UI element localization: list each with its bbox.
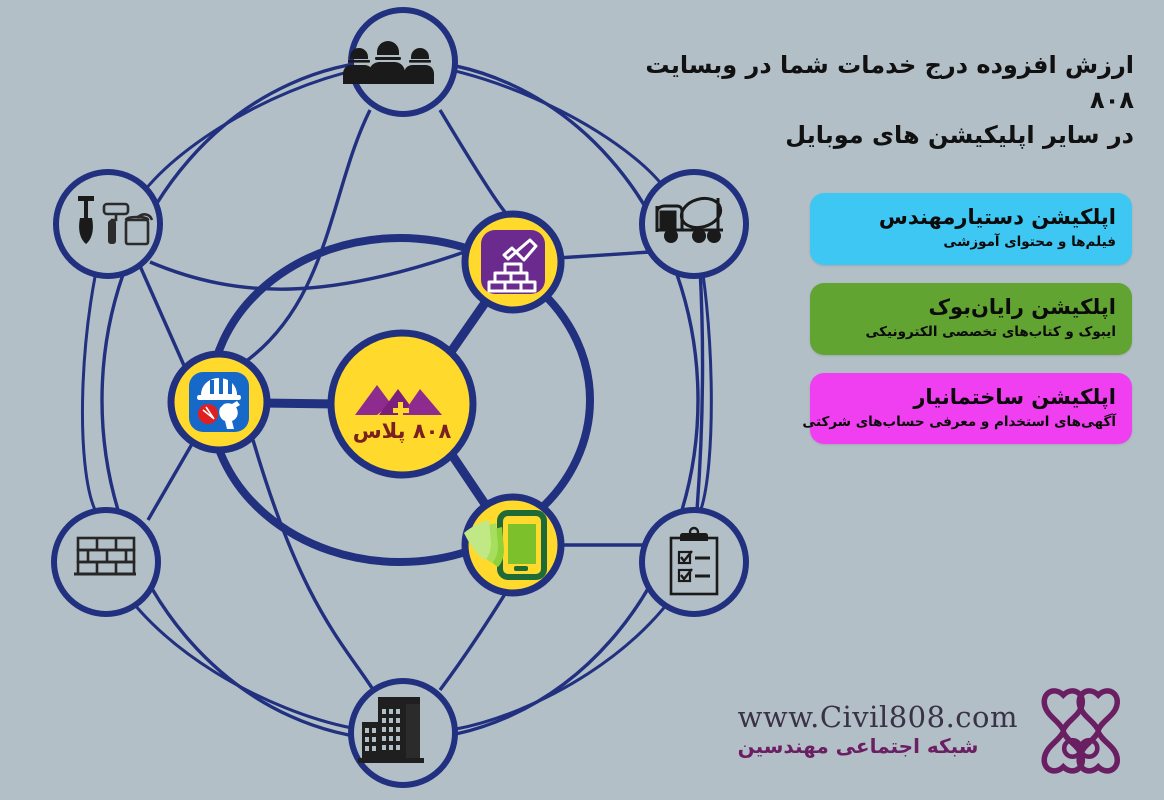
app-card-subtitle: ایبوک و کتاب‌های تخصصی الکترونیکی [826, 324, 1116, 342]
rayanbook-node[interactable] [464, 497, 561, 593]
app-card-rayanbook[interactable]: اپلکیشن رایان‌بوک ایبوک و کتاب‌های تخصصی… [810, 283, 1132, 355]
sakhtemanyar-node[interactable] [465, 214, 561, 310]
app-card-subtitle: آگهی‌های استخدام و معرفی حساب‌های شرکتی [826, 414, 1116, 432]
right-panel: ارزش افزوده درج خدمات شما در وبسایت ۸۰۸ … [600, 0, 1164, 800]
808-plus-hub[interactable]: ۸۰۸ پلاس [331, 333, 473, 475]
hub-label: ۸۰۸ پلاس [353, 419, 452, 443]
brand-tagline: شبکه اجتماعی مهندسین [738, 734, 979, 758]
infographic-root: ۸۰۸ پلاس ارزش افزوده درج خدمات شما در وب… [0, 0, 1164, 800]
app-card-dastyar-mohandes[interactable]: اپلکیشن دستیارمهندس فیلم‌ها و محتوای آمو… [810, 193, 1132, 265]
brand-footer[interactable]: www.Civil808.com شبکه اجتماعی مهندسین [738, 682, 1124, 778]
app-card-sakhtemanyar[interactable]: اپلکیشن ساختمانیار آگهی‌های استخدام و مع… [810, 373, 1132, 445]
tools-node[interactable] [56, 172, 160, 276]
workers-node[interactable] [343, 10, 455, 114]
buildings-node[interactable] [351, 681, 455, 785]
website-url[interactable]: www.Civil808.com [738, 702, 1018, 732]
app-card-title: اپلکیشن دستیارمهندس [826, 204, 1116, 230]
headline-line-2: در سایر اپلیکیشن های موبایل [614, 118, 1134, 153]
app-cards-list: اپلکیشن دستیارمهندس فیلم‌ها و محتوای آمو… [810, 193, 1132, 462]
app-card-title: اپلکیشن ساختمانیار [826, 384, 1116, 410]
app-card-title: اپلکیشن رایان‌بوک [826, 294, 1116, 320]
page-title: ارزش افزوده درج خدمات شما در وبسایت ۸۰۸ … [614, 48, 1134, 152]
brickwall-node[interactable] [54, 510, 158, 614]
civil808-knot-logo [1032, 682, 1124, 778]
headline-line-1: ارزش افزوده درج خدمات شما در وبسایت ۸۰۸ [645, 51, 1134, 114]
app-card-subtitle: فیلم‌ها و محتوای آموزشی [826, 234, 1116, 252]
dastyar-mohandes-node[interactable] [171, 354, 267, 450]
